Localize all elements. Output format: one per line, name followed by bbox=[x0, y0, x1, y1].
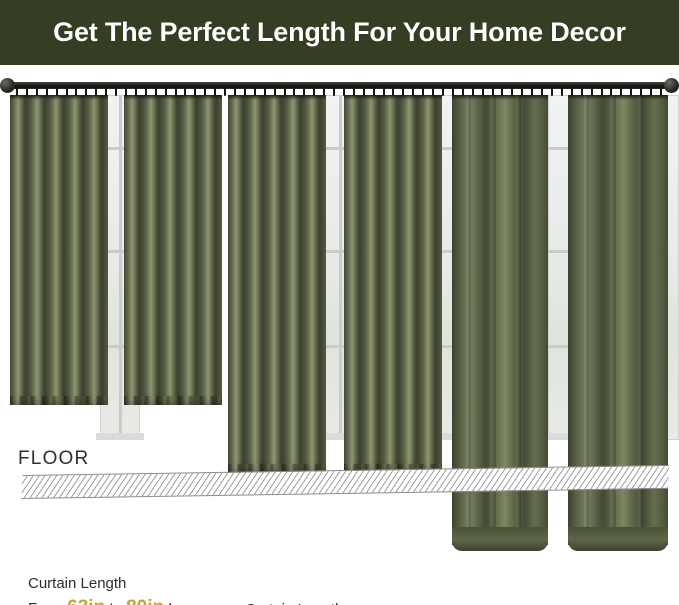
curtain-hook bbox=[16, 87, 18, 96]
curtain-hook bbox=[105, 87, 107, 96]
curtain-hook bbox=[254, 87, 256, 96]
curtain-hook bbox=[333, 87, 335, 96]
curtain-puddle bbox=[452, 527, 548, 551]
curtain-hook bbox=[640, 87, 642, 96]
curtain-hook bbox=[581, 87, 583, 96]
curtain-hook bbox=[482, 87, 484, 96]
floor-label: FLOOR bbox=[18, 448, 89, 470]
curtain-hook bbox=[145, 87, 147, 96]
curtain-panel[interactable] bbox=[228, 95, 326, 473]
window-sill bbox=[96, 433, 144, 440]
curtain-hook bbox=[412, 87, 414, 96]
curtain-hook bbox=[353, 87, 355, 96]
curtain-hook bbox=[26, 87, 28, 96]
curtain-hook bbox=[56, 87, 58, 96]
curtain-hook bbox=[561, 87, 563, 96]
curtain-panel[interactable] bbox=[124, 95, 222, 405]
curtain-hook bbox=[115, 87, 117, 96]
curtain-hook bbox=[630, 87, 632, 96]
curtain-hook bbox=[165, 87, 167, 96]
curtain-hook bbox=[432, 87, 434, 96]
curtain-panel[interactable] bbox=[344, 95, 442, 473]
caption-middle: to bbox=[105, 600, 126, 605]
curtain-hook bbox=[442, 87, 444, 96]
curtain-hook bbox=[472, 87, 474, 96]
header-banner: Get The Perfect Length For Your Home Dec… bbox=[0, 0, 679, 65]
curtain-fabric bbox=[344, 95, 442, 473]
curtain-fabric bbox=[10, 95, 108, 405]
curtain-hook bbox=[95, 87, 97, 96]
curtain-hook bbox=[363, 87, 365, 96]
curtain-puddle bbox=[568, 527, 668, 551]
curtain-fabric bbox=[124, 95, 222, 405]
curtain-hook bbox=[373, 87, 375, 96]
curtain-hook bbox=[204, 87, 206, 96]
page-title: Get The Perfect Length For Your Home Dec… bbox=[53, 17, 626, 48]
curtain-hook bbox=[155, 87, 157, 96]
curtain-hook bbox=[591, 87, 593, 96]
curtain-hook bbox=[551, 87, 553, 96]
curtain-hook bbox=[462, 87, 464, 96]
curtain-hook bbox=[66, 87, 68, 96]
curtain-hook bbox=[323, 87, 325, 96]
caption-from-value: 63in bbox=[67, 597, 105, 605]
curtain-hook bbox=[214, 87, 216, 96]
curtain-hook bbox=[422, 87, 424, 96]
curtain-length-illustration: FLOOR Curtain Length From 63in to 80in L… bbox=[0, 65, 679, 605]
curtain-hook bbox=[313, 87, 315, 96]
rod-finial-right-icon bbox=[664, 78, 679, 93]
curtain-hook bbox=[244, 87, 246, 96]
caption-short-curtain: Curtain Length From 63in to 80in Long bbox=[28, 574, 202, 605]
curtain-fabric bbox=[228, 95, 326, 473]
curtain-hook bbox=[343, 87, 345, 96]
caption-to-value: 80in bbox=[126, 597, 164, 605]
curtain-hook bbox=[383, 87, 385, 96]
curtain-hook bbox=[274, 87, 276, 96]
curtain-hook bbox=[234, 87, 236, 96]
caption-range: From 63in to 80in Long bbox=[28, 595, 202, 605]
curtain-hook bbox=[125, 87, 127, 96]
rod-finial-left-icon bbox=[0, 78, 15, 93]
curtain-hook bbox=[531, 87, 533, 96]
caption-prefix: From bbox=[28, 600, 67, 605]
curtain-hook bbox=[601, 87, 603, 96]
caption-medium-curtain: Curtain Length From 84in to 96in Long bbox=[245, 600, 419, 605]
curtain-hook bbox=[650, 87, 652, 96]
curtain-hook bbox=[303, 87, 305, 96]
curtain-panel[interactable] bbox=[10, 95, 108, 405]
curtain-hook bbox=[452, 87, 454, 96]
curtain-hook bbox=[284, 87, 286, 96]
curtain-hook bbox=[492, 87, 494, 96]
curtain-hook bbox=[571, 87, 573, 96]
curtain-hook bbox=[660, 87, 662, 96]
curtain-rod-assembly bbox=[0, 65, 679, 105]
curtain-hem bbox=[10, 396, 108, 405]
curtain-hook bbox=[135, 87, 137, 96]
caption-title: Curtain Length bbox=[245, 600, 419, 605]
caption-suffix: Long bbox=[164, 600, 202, 605]
curtain-hook bbox=[224, 87, 226, 96]
curtain-hem bbox=[124, 396, 222, 405]
curtain-hook bbox=[541, 87, 543, 96]
curtain-hook bbox=[175, 87, 177, 96]
curtain-hook bbox=[46, 87, 48, 96]
curtain-hook bbox=[521, 87, 523, 96]
curtain-hook bbox=[36, 87, 38, 96]
caption-title: Curtain Length bbox=[28, 574, 202, 595]
curtain-hook bbox=[264, 87, 266, 96]
